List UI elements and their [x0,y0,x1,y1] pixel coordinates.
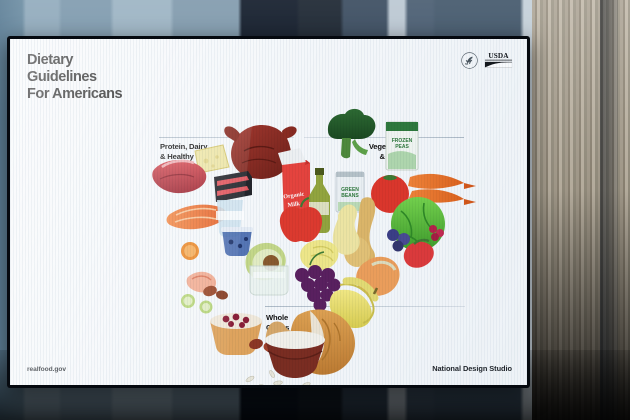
page-title: Dietary Guidelines For Americans [27,52,122,103]
label-vegetables-fruits: Vegetables & Fruits [369,142,407,161]
display-bezel: Dietary Guidelines For Americans USDA [7,36,530,388]
raspberry-illustration [429,225,444,241]
yogurt-cup-illustration [216,200,244,237]
dates-illustration [248,337,277,352]
avocado-illustration [245,243,285,280]
svg-text:USDA: USDA [488,52,509,60]
tofu-block-illustration [250,266,288,295]
green-beans-can-illustration: GREEN BEANS [336,172,364,212]
strawberry-illustration [404,240,434,268]
blueberries-illustration [387,229,410,252]
steak-illustration [152,160,206,193]
grapes-illustration [295,252,341,312]
butternut-squash-illustration [344,197,375,267]
tomato-illustration [371,175,409,213]
pear-illustration [333,204,360,254]
display-screen[interactable]: Dietary Guidelines For Americans USDA [10,39,527,385]
apple-illustration [280,198,322,242]
bananas-illustration [330,281,377,328]
rice-bowl-illustration [265,331,325,378]
blueberry-yogurt-illustration [221,227,253,256]
svg-text:GREEN: GREEN [341,187,359,193]
hhs-seal-icon [461,52,478,69]
label-whole-grains: Whole Grains [266,313,289,332]
cantaloupe-illustration [356,257,399,296]
olive-oil-bottle-illustration [309,168,330,233]
divider-protein [159,137,294,138]
footer-credit: National Design Studio [432,364,512,373]
roast-turkey-illustration [224,125,296,179]
rice-grains-illustration [245,370,311,385]
lettuce-illustration [391,197,445,251]
presentation-slide: Dietary Guidelines For Americans USDA [10,39,527,385]
divider-vegetables [304,137,464,138]
cheese-block-illustration [214,171,252,202]
footer-website-url[interactable]: realfood.gov [27,366,66,373]
orange-illustration [181,242,199,260]
svg-text:Milk: Milk [287,201,301,209]
wall-shadow-strip [600,0,618,420]
label-protein-dairy-fats: Protein, Dairy & Healthy Fats [160,142,211,161]
nuts-illustration [202,284,229,300]
salmon-fillet-illustration [167,205,227,230]
shrimp-illustration [187,272,224,293]
svg-text:Organic: Organic [283,192,305,201]
carrots-illustration [408,174,476,205]
bread-loaf-illustration [290,309,355,374]
corn-illustration [300,240,338,270]
usda-logo-icon: USDA [484,51,513,69]
divider-grains [265,306,465,307]
milk-carton-illustration: Organic Milk [278,148,310,220]
agency-logos: USDA [461,51,513,69]
yogurt-bowl-illustration [210,313,262,355]
svg-text:BEANS: BEANS [341,193,359,199]
cucumber-slices-illustration [181,294,213,314]
